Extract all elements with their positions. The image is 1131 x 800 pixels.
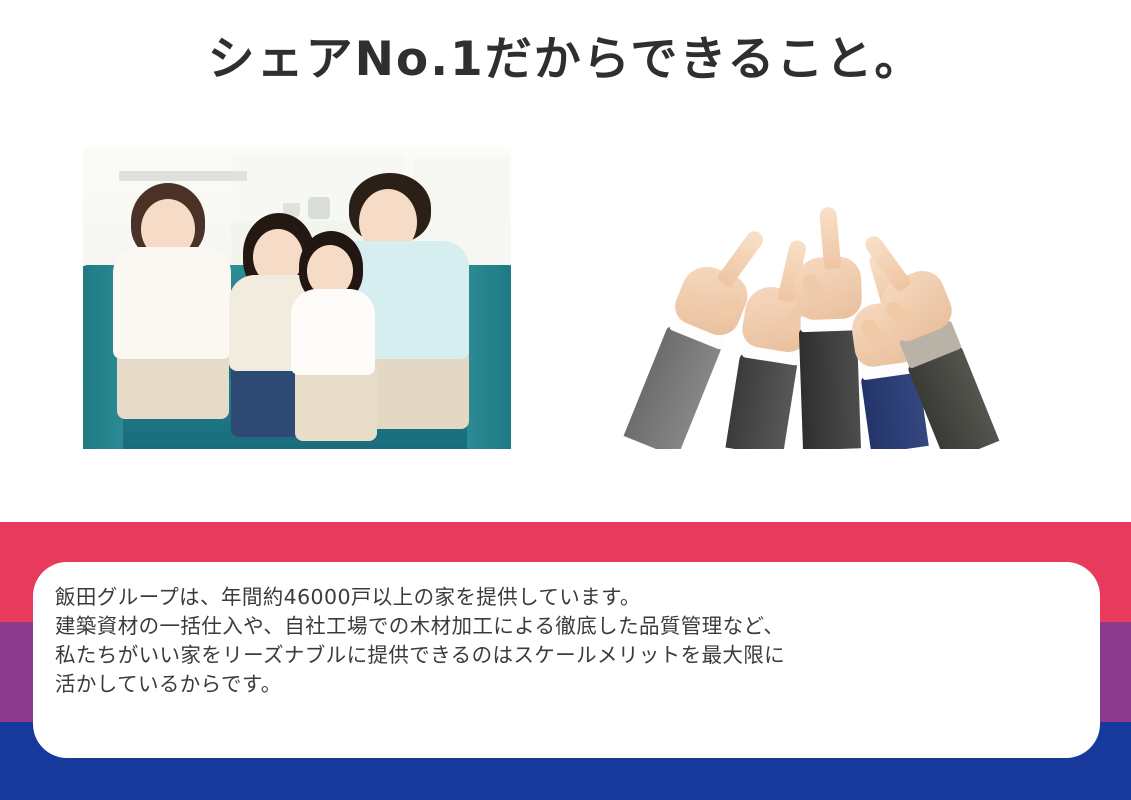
suit-sleeve (725, 353, 797, 449)
page-title: シェアNo.1だからできること。 (0, 31, 1131, 90)
suit-sleeve (799, 326, 861, 449)
media-row (0, 147, 1131, 457)
torso (291, 289, 375, 375)
info-card: 飯田グループは、年間約46000戸以上の家を提供しています。 建築資材の一括仕入… (33, 562, 1100, 758)
sofa-arm-right (467, 265, 511, 449)
info-card-body: 飯田グループは、年間約46000戸以上の家を提供しています。 建築資材の一括仕入… (55, 583, 1055, 699)
pointing-hands-photo (603, 191, 1043, 449)
torso (113, 247, 231, 359)
container-icon (308, 197, 330, 219)
shelf-rail (119, 171, 247, 181)
index-finger (716, 228, 766, 288)
family-on-sofa-photo (83, 147, 511, 449)
